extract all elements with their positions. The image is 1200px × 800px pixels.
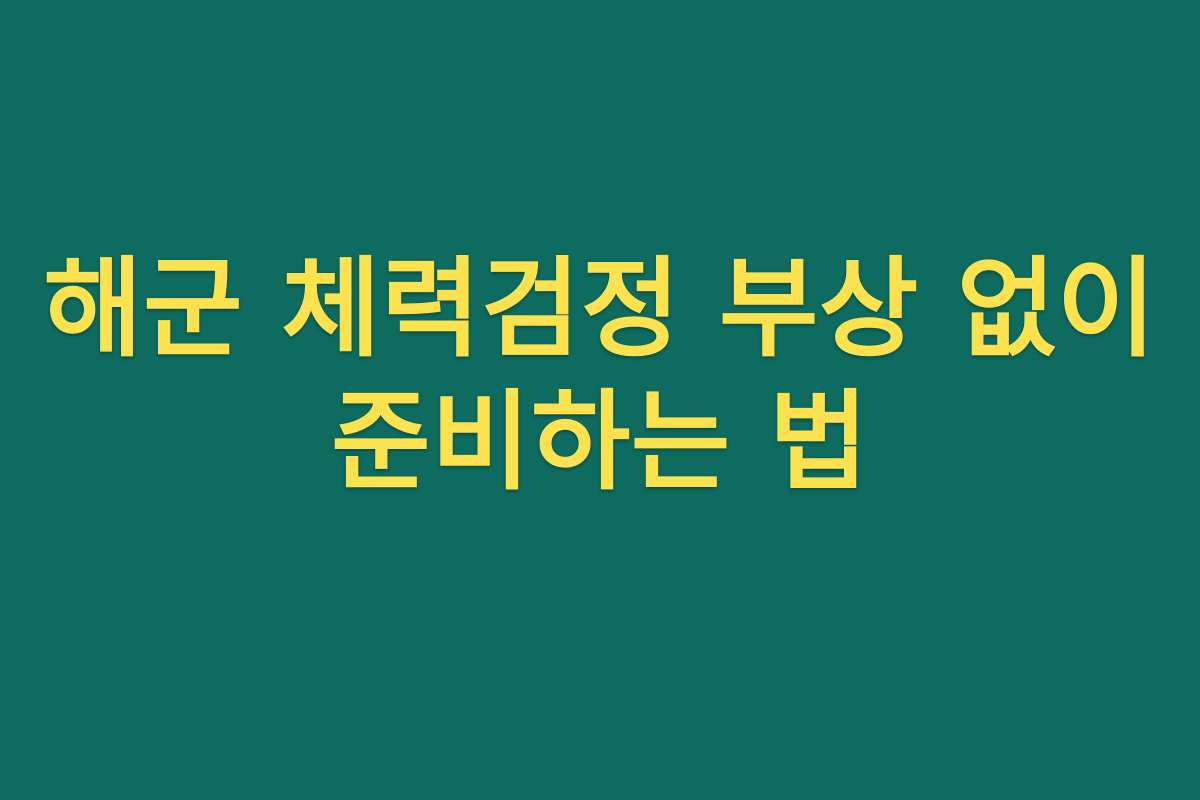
title-line-2: 준비하는 법 <box>40 376 1160 509</box>
title-block: 해군 체력검정 부상 없이 준비하는 법 <box>0 243 1200 509</box>
title-line-1: 해군 체력검정 부상 없이 <box>40 243 1160 376</box>
thumbnail-canvas: 해군 체력검정 부상 없이 준비하는 법 <box>0 0 1200 800</box>
